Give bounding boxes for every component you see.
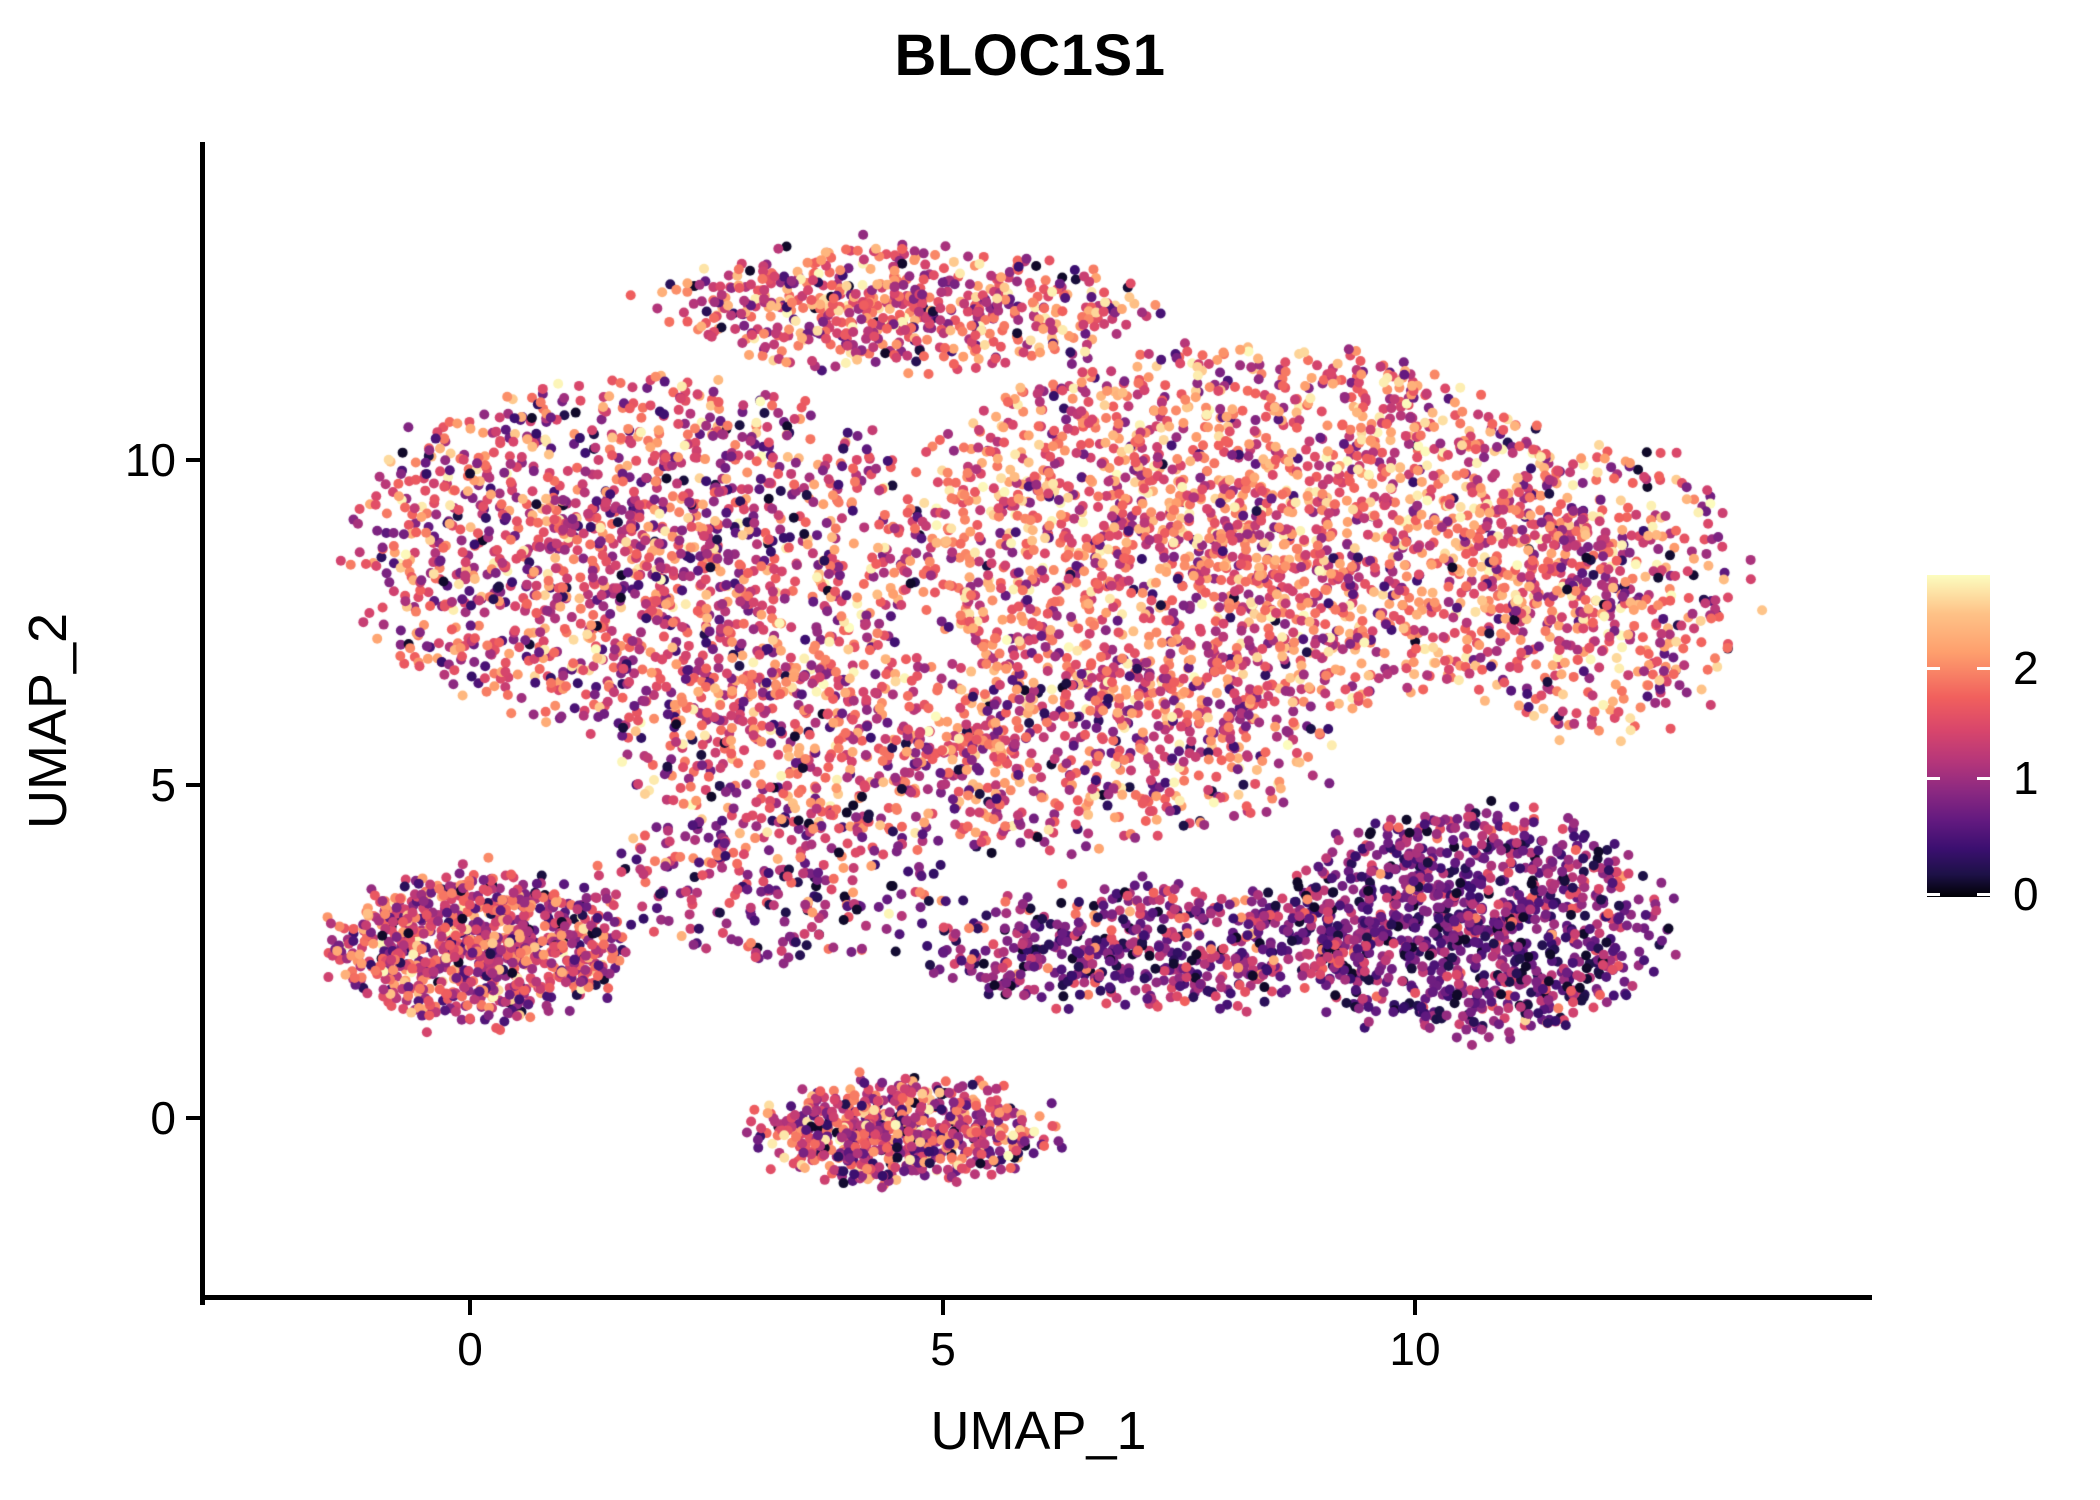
x-axis-ticklabel-10: 10	[1355, 1322, 1475, 1376]
y-axis-title: UMAP_2	[17, 421, 79, 1021]
colorbar-label-1: 1	[2013, 751, 2100, 805]
x-axis-title: UMAP_1	[205, 1400, 1872, 1462]
y-axis-tick-10	[186, 458, 201, 462]
colorbar-tick-1-left	[1927, 777, 1940, 780]
colorbar-label-0: 0	[2013, 867, 2100, 921]
colorbar-tick-0-right	[1977, 893, 1990, 896]
colorbar-tick-2-left	[1927, 667, 1940, 670]
x-axis-tick-10	[1413, 1300, 1417, 1315]
y-axis-line	[200, 142, 205, 1305]
y-axis-ticklabel-0: 0	[36, 1091, 176, 1145]
feature-plot-figure: BLOC1S1 0 5 10 10 5 0 UMAP_1 UMAP_2 2 1 …	[0, 0, 2100, 1500]
scatter-points-layer	[205, 142, 1872, 1300]
x-axis-line	[200, 1295, 1872, 1300]
x-axis-tick-0	[468, 1300, 472, 1315]
colorbar-label-2: 2	[2013, 641, 2100, 695]
colorbar-tick-2-right	[1977, 667, 1990, 670]
x-axis-ticklabel-5: 5	[883, 1322, 1003, 1376]
page-title: BLOC1S1	[0, 22, 2060, 89]
x-axis-tick-5	[941, 1300, 945, 1315]
y-axis-tick-5	[186, 783, 201, 787]
x-axis-ticklabel-0: 0	[410, 1322, 530, 1376]
colorbar-gradient	[1927, 575, 1990, 897]
colorbar-tick-0-left	[1927, 893, 1940, 896]
y-axis-tick-0	[186, 1116, 201, 1120]
colorbar-tick-1-right	[1977, 777, 1990, 780]
scatter-plot-panel	[205, 142, 1872, 1300]
color-legend: 2 1 0	[1927, 575, 1990, 897]
